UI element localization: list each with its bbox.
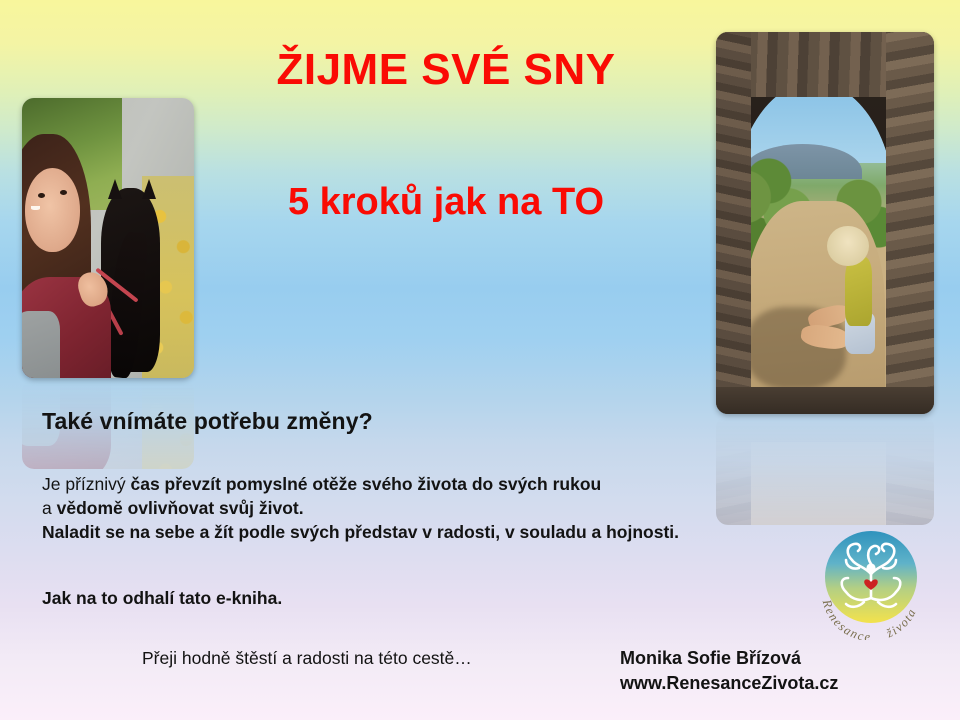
body-line-3: Naladit se na sebe a žít podle svých pře… — [42, 520, 842, 544]
body-line-2-bold: vědomě ovlivňovat svůj život. — [57, 498, 304, 518]
photo-woman-shirt — [22, 311, 60, 378]
photo-arch-image — [716, 32, 934, 414]
page-subtitle: 5 kroků jak na TO — [196, 182, 696, 224]
body-line-2: a vědomě ovlivňovat svůj život. — [42, 496, 842, 520]
reflection-stone-right — [886, 415, 934, 525]
photo-arch-opening — [733, 82, 894, 395]
author-name: Monika Sofie Břízová — [620, 646, 838, 671]
cta-text: Jak na to odhalí tato e-kniha. — [42, 588, 282, 609]
photo-woman-face — [25, 168, 80, 252]
slide-canvas: ŽIJME SVÉ SNY 5 kroků jak na TO Také vní… — [0, 0, 960, 720]
body-line-2-normal: a — [42, 498, 57, 518]
body-line-3-bold: Naladit se na sebe a žít podle svých pře… — [42, 522, 679, 542]
signature-block: Monika Sofie Břízová www.RenesanceZivota… — [620, 646, 838, 696]
photo-arch-stone-left — [716, 32, 751, 414]
closing-wish: Přeji hodně štěstí a radosti na této ces… — [142, 648, 472, 669]
body-line-1: Je příznivý čas převzít pomyslné otěže s… — [42, 472, 842, 496]
photo-horse-ear-right — [142, 179, 156, 199]
photo-arch-stone-bottom — [716, 387, 934, 414]
page-title: ŽIJME SVÉ SNY — [196, 46, 696, 94]
logo-tree-head — [866, 563, 875, 572]
photo-woman-smile — [31, 206, 40, 210]
photo-seated-sunhat — [827, 226, 869, 267]
photo-horse-ear-left — [108, 179, 122, 199]
photo-horse-frame — [22, 98, 194, 378]
photo-arch-frame — [716, 32, 934, 414]
body-line-1-normal: Je příznivý — [42, 474, 131, 494]
photo-seated-torso — [845, 257, 872, 326]
photo-woman-eye-right — [60, 190, 67, 195]
reflection-stone-bottom — [716, 415, 934, 442]
question-heading: Také vnímáte potřebu změny? — [42, 408, 373, 435]
photo-woman-eye-left — [38, 193, 45, 198]
renesance-zivota-logo[interactable]: Renesance života — [812, 522, 930, 640]
body-line-1-bold: čas převzít pomyslné otěže svého života … — [131, 474, 602, 494]
photo-arch-stone-right — [886, 32, 934, 414]
body-copy: Je příznivý čas převzít pomyslné otěže s… — [42, 472, 842, 544]
photo-horse-image — [22, 98, 194, 378]
website-url[interactable]: www.RenesanceZivota.cz — [620, 671, 838, 696]
